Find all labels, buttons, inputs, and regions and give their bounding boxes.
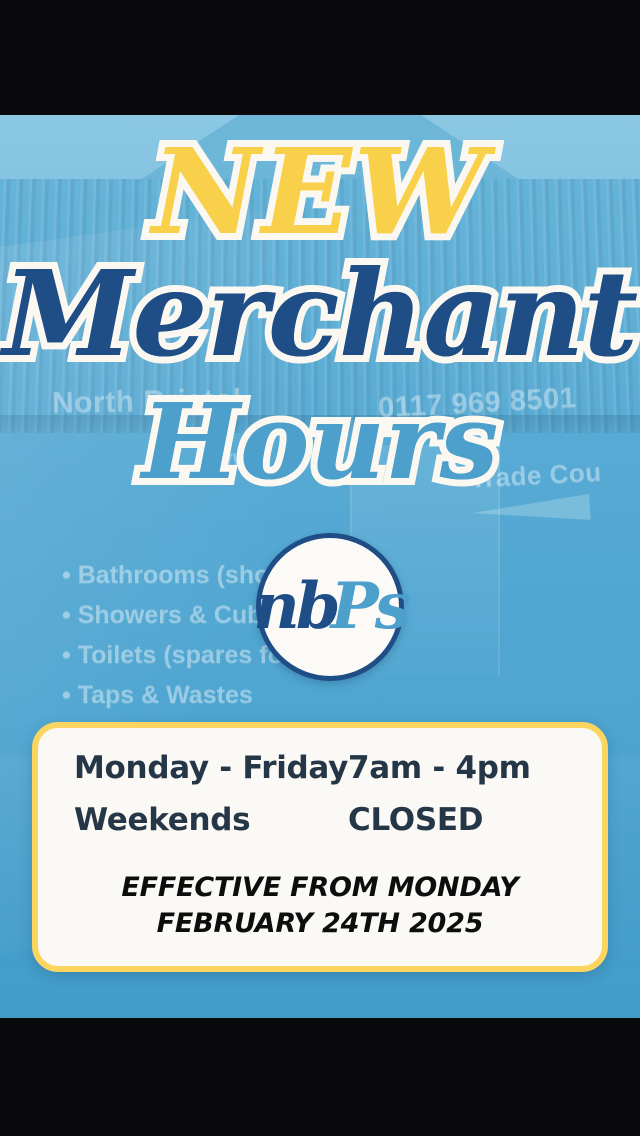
- logo-letter-s: s: [375, 575, 407, 639]
- headline-merchant-fill: Merchant: [0, 255, 640, 373]
- headline-line-merchant: Merchant Merchant: [0, 255, 640, 373]
- hours-time-value: CLOSED: [348, 802, 566, 838]
- poster-canvas: North Bristol 0117 969 8501 www Trade Co…: [0, 115, 640, 1018]
- hours-time-value: 7am - 4pm: [348, 750, 566, 786]
- headline-new-fill: NEW: [0, 133, 640, 251]
- effective-date-notice: EFFECTIVE FROM MONDAY FEBRUARY 24TH 2025: [74, 870, 566, 942]
- logo-letter-p: P: [331, 575, 375, 639]
- headline-line-hours: Hours Hours: [0, 390, 640, 494]
- effective-date-line-2: FEBRUARY 24TH 2025: [74, 906, 566, 942]
- headline-line-new: NEW NEW: [0, 133, 640, 251]
- logo-letters-nb: nb: [253, 575, 336, 639]
- hours-day-label: Monday - Friday: [74, 750, 348, 786]
- background-product-item: • Taps & Wastes: [62, 675, 303, 715]
- hours-day-label: Weekends: [74, 802, 250, 838]
- opening-hours-card: Monday - Friday 7am - 4pm Weekends CLOSE…: [32, 722, 608, 972]
- logo-wordmark: nbPs: [261, 538, 399, 676]
- letterbox-bar-bottom: [0, 1018, 640, 1136]
- letterbox-bar-top: [0, 0, 640, 115]
- hours-table: Monday - Friday 7am - 4pm Weekends CLOSE…: [74, 750, 566, 844]
- headline-hours-fill: Hours: [0, 390, 640, 494]
- company-logo-badge: nbPs: [256, 533, 404, 681]
- hours-row: Weekends CLOSED: [74, 802, 566, 838]
- effective-date-line-1: EFFECTIVE FROM MONDAY: [74, 870, 566, 906]
- screenshot-frame: North Bristol 0117 969 8501 www Trade Co…: [0, 0, 640, 1136]
- hours-row: Monday - Friday 7am - 4pm: [74, 750, 566, 786]
